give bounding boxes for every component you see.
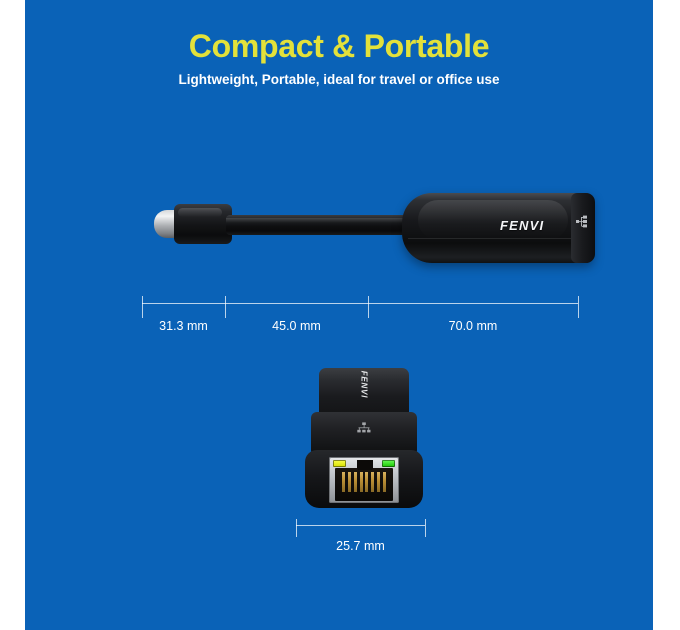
rj45-cavity [335, 468, 393, 501]
rj45-pin [360, 472, 363, 492]
rj45-pin [354, 472, 357, 492]
rj45-port-side [571, 193, 595, 263]
ethernet-icon [576, 215, 592, 228]
rj45-pin [365, 472, 368, 492]
rj45-pin [342, 472, 345, 492]
front-view-top-shell: FENVI [319, 368, 409, 416]
usb-c-connector-body [174, 204, 232, 244]
ruler-tick-0 [142, 296, 143, 318]
dimension-label-housing: 70.0 mm [368, 318, 578, 334]
blue-canvas: Compact & Portable Lightweight, Portable… [25, 0, 653, 630]
ethernet-icon [357, 422, 372, 434]
housing-seam [408, 238, 590, 239]
dimension-label-width: 25.7 mm [296, 538, 425, 554]
rj45-pin [348, 472, 351, 492]
dimension-ruler-front [296, 525, 425, 526]
product-front-view: FENVI [297, 368, 432, 508]
rj45-pin [377, 472, 380, 492]
front-view-bottom-shell [305, 450, 423, 508]
led-indicator-right [382, 460, 395, 467]
page-title: Compact & Portable [25, 26, 653, 66]
dimension-ruler-side [142, 303, 578, 304]
rj45-notch [357, 460, 373, 470]
page-subtitle: Lightweight, Portable, ideal for travel … [25, 71, 653, 89]
rj45-pin [383, 472, 386, 492]
led-indicator-left [333, 460, 346, 467]
ruler-tick-front-0 [296, 519, 297, 537]
housing-highlight [418, 200, 568, 240]
brand-logo-front: FENVI [360, 371, 369, 399]
product-infographic: Compact & Portable Lightweight, Portable… [0, 0, 680, 630]
ruler-tick-3 [578, 296, 579, 318]
rj45-pin [371, 472, 374, 492]
adapter-housing: FENVI [402, 193, 594, 263]
rj45-port-front [329, 457, 399, 503]
dimension-label-cable: 45.0 mm [225, 318, 368, 334]
product-side-view: FENVI [130, 178, 595, 278]
adapter-cable [226, 215, 416, 235]
brand-logo-side: FENVI [500, 218, 544, 233]
ruler-tick-front-1 [425, 519, 426, 537]
ruler-tick-2 [368, 296, 369, 318]
ruler-tick-1 [225, 296, 226, 318]
rj45-pin-row [342, 472, 386, 492]
dimension-label-usb-c: 31.3 mm [142, 318, 225, 334]
